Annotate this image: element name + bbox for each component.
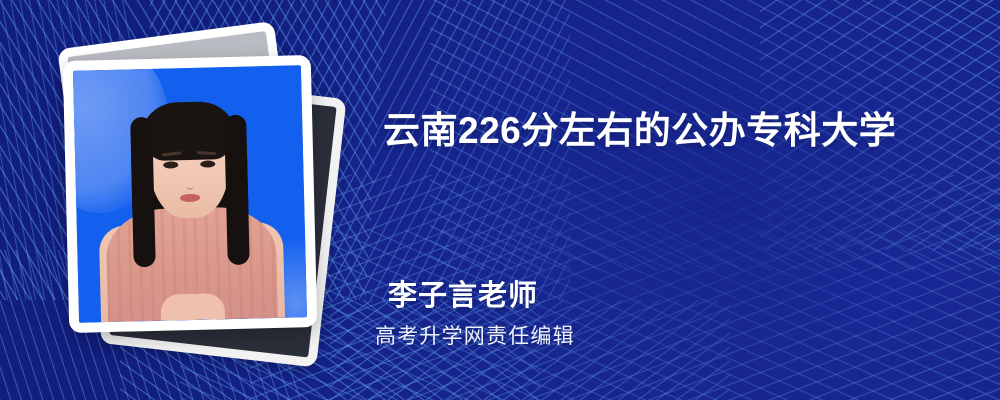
avatar (73, 65, 307, 322)
hands-shape (160, 293, 225, 321)
portrait-photo-icon (73, 65, 307, 322)
nose-shape (186, 178, 194, 190)
author-name: 李子言老师 (388, 272, 538, 314)
author-role: 高考升学网责任编辑 (375, 320, 575, 350)
photo-stack (52, 28, 342, 358)
hair-side-right-shape (224, 115, 250, 265)
article-header-banner: 云南226分左右的公办专科大学 李子言老师 高考升学网责任编辑 (0, 0, 1000, 400)
author-portrait-frame (63, 55, 318, 333)
page-title: 云南226分左右的公办专科大学 (383, 100, 896, 154)
hair-front-shape (142, 101, 235, 161)
banner-text-column: 云南226分左右的公办专科大学 李子言老师 高考升学网责任编辑 (380, 0, 980, 400)
hair-side-left-shape (130, 117, 156, 267)
